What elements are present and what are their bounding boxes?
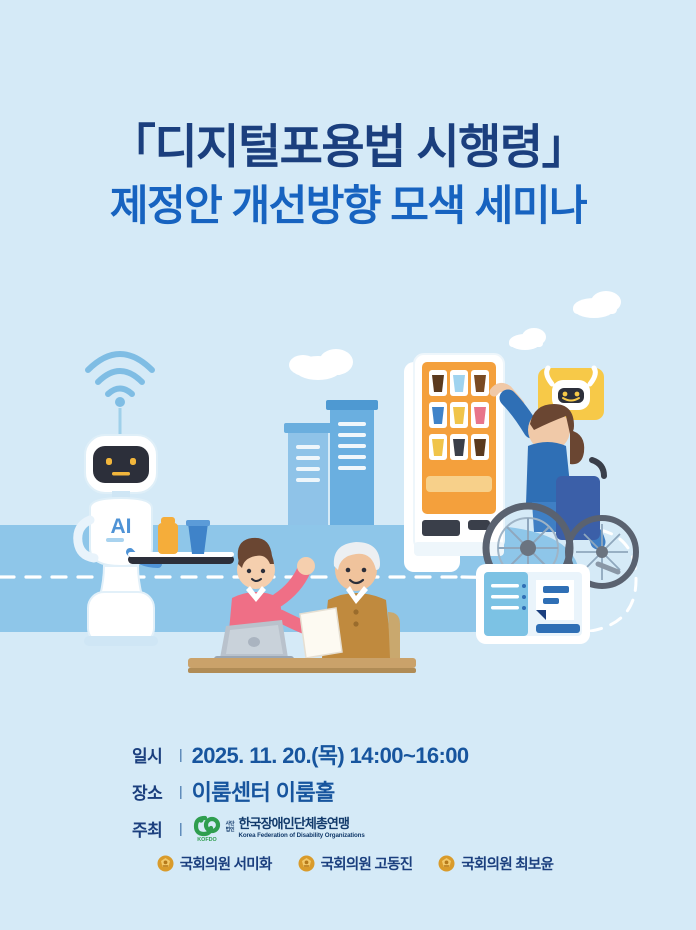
member-item: 국회의원 고동진 <box>298 853 413 874</box>
event-info: 일시 | 2025. 11. 20.(목) 14:00~16:00 장소 | 이… <box>0 738 696 874</box>
place-separator: | <box>179 783 183 799</box>
host-separator: | <box>179 820 183 836</box>
member-name: 국회의원 최보윤 <box>461 853 553 874</box>
kofdo-mark-icon: KOFDO <box>192 814 222 842</box>
info-row-date: 일시 | 2025. 11. 20.(목) 14:00~16:00 <box>0 738 696 770</box>
assembly-emblem-icon <box>438 855 455 872</box>
place-label: 장소 <box>132 779 172 804</box>
member-name: 국회의원 서미화 <box>180 853 272 874</box>
robot-ai-label: AI <box>111 515 132 538</box>
kofdo-prefix: 사단 법인 <box>226 822 235 834</box>
place-value: 이룸센터 이룸홀 <box>192 775 335 807</box>
svg-text:KOFDO: KOFDO <box>197 837 216 842</box>
illustration: AI <box>0 280 696 680</box>
laptop-icon <box>214 620 294 662</box>
kofdo-name-kr: 한국장애인단체총연맹 <box>238 817 364 832</box>
tablet-screen <box>476 564 590 644</box>
poster-title: 「디지털포용법 시행령」 제정안 개선방향 모색 세미나 <box>0 118 696 234</box>
title-line-2: 제정안 개선방향 모색 세미나 <box>0 179 696 234</box>
date-value: 2025. 11. 20.(목) 14:00~16:00 <box>192 738 469 770</box>
assembly-members: 국회의원 서미화 국회의원 고동진 <box>0 853 696 874</box>
member-item: 국회의원 최보윤 <box>438 853 553 874</box>
kofdo-name-en: Korea Federation of Disability Organizat… <box>238 832 364 839</box>
kofdo-logo: KOFDO 사단 법인 한국장애인단체총연맹 Korea Federation … <box>192 814 365 842</box>
date-separator: | <box>179 746 183 762</box>
member-item: 국회의원 서미화 <box>157 853 272 874</box>
date-label: 일시 <box>132 742 172 767</box>
assembly-emblem-icon <box>157 855 174 872</box>
assembly-emblem-icon <box>298 855 315 872</box>
host-label: 주최 <box>132 816 172 841</box>
title-line-1: 「디지털포용법 시행령」 <box>0 118 696 175</box>
info-row-host: 주최 | KOFDO 사단 법인 <box>0 814 696 842</box>
document-paper <box>300 608 342 658</box>
seminar-poster: 「디지털포용법 시행령」 제정안 개선방향 모색 세미나 <box>0 0 696 930</box>
member-name: 국회의원 고동진 <box>321 853 413 874</box>
info-row-place: 장소 | 이룸센터 이룸홀 <box>0 775 696 807</box>
kiosk-drink-grid <box>429 370 489 460</box>
